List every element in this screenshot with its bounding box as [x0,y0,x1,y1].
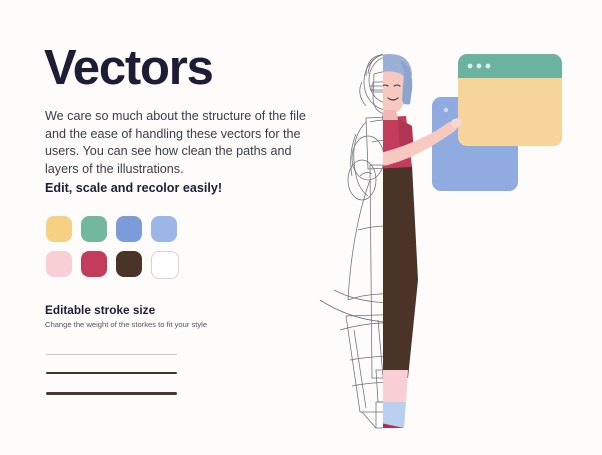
vector-character-illustration [300,30,600,430]
color-swatch-dark-brown[interactable] [116,251,142,277]
page-title: Vectors [44,44,213,93]
color-swatch-white[interactable] [151,251,179,279]
window-dots [468,64,491,69]
stroke-sample-thick [46,392,177,395]
stroke-section-title: Editable stroke size [45,303,155,317]
body-paragraph: We care so much about the structure of t… [45,108,320,178]
color-swatch-crimson[interactable] [81,251,107,277]
stroke-section-subtitle: Change the weight of the storkes to fit … [45,320,207,329]
window-card-front [458,54,562,146]
color-swatch-light-blue[interactable] [151,216,177,242]
stroke-sample-thin [46,354,177,355]
poster-canvas: Vectors We care so much about the struct… [0,0,602,455]
color-swatch-green[interactable] [81,216,107,242]
color-swatch-yellow[interactable] [46,216,72,242]
color-swatch-pink[interactable] [46,251,72,277]
subheading-edit-scale-recolor: Edit, scale and recolor easily! [45,181,222,195]
color-swatch-blue[interactable] [116,216,142,242]
color-swatch-grid [46,216,177,277]
stroke-sample-medium [46,372,177,374]
